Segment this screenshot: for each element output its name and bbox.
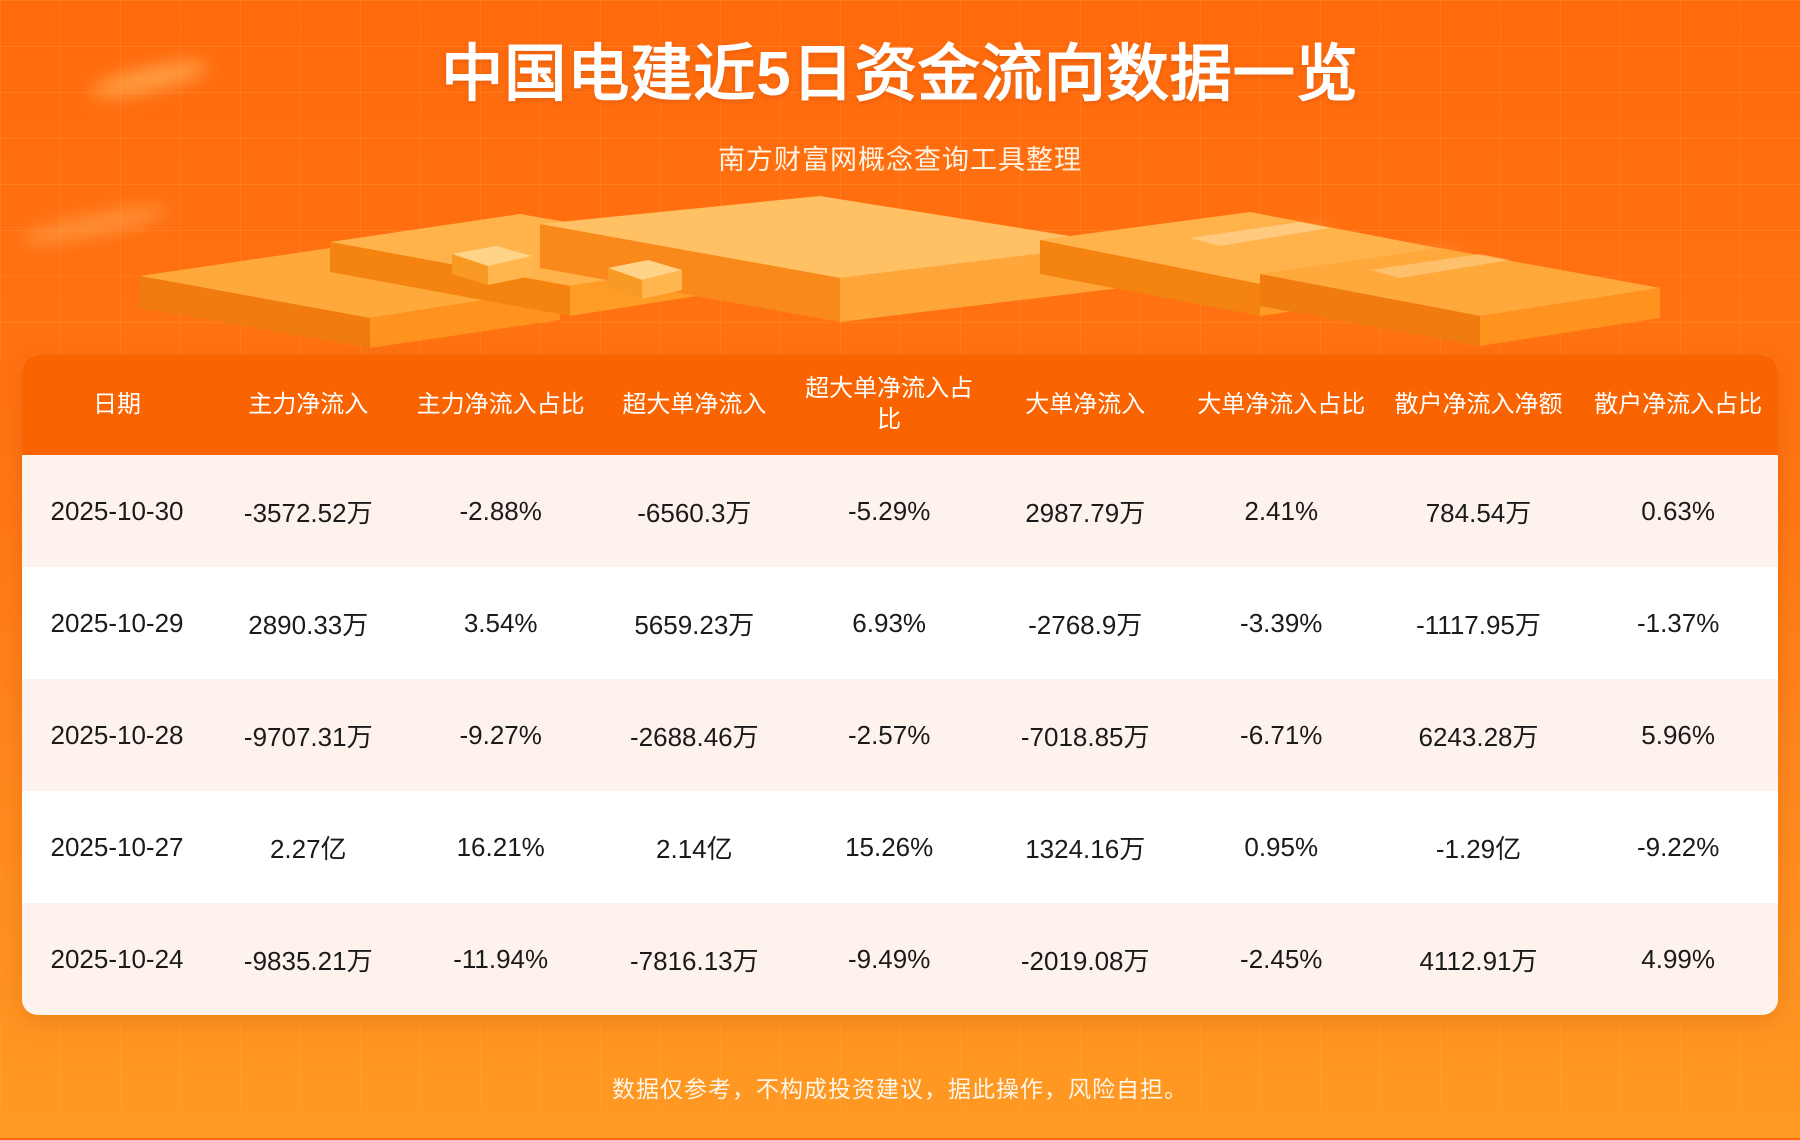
- cell-retail-net-amount: 4112.91万: [1379, 903, 1579, 1015]
- column-header-main-net-inflow-pct: 主力净流入占比: [404, 355, 596, 455]
- cell-large-net-inflow: -2019.08万: [987, 903, 1184, 1015]
- cell-retail-net-pct: 5.96%: [1578, 679, 1778, 791]
- cell-main-net-inflow-pct: -2.88%: [404, 455, 596, 567]
- table-header: 日期 主力净流入 主力净流入占比 超大单净流入 超大单净流入占比 大单净流入 大…: [22, 355, 1778, 455]
- cell-date: 2025-10-29: [22, 567, 212, 679]
- column-header-main-net-inflow: 主力净流入: [212, 355, 404, 455]
- cell-large-net-inflow: -2768.9万: [987, 567, 1184, 679]
- cell-retail-net-amount: 6243.28万: [1379, 679, 1579, 791]
- cell-retail-net-amount: -1117.95万: [1379, 567, 1579, 679]
- cell-large-net-inflow-pct: 2.41%: [1184, 455, 1379, 567]
- cell-date: 2025-10-27: [22, 791, 212, 903]
- column-header-date: 日期: [22, 355, 212, 455]
- cell-large-net-inflow: 1324.16万: [987, 791, 1184, 903]
- data-card: 南方财富网 Southmoney.com 日期 主力净流入 主力净流入占比 超大…: [22, 355, 1778, 1015]
- column-header-large-net-inflow-pct: 大单净流入占比: [1184, 355, 1379, 455]
- cell-retail-net-pct: -9.22%: [1578, 791, 1778, 903]
- table-body: 2025-10-30 -3572.52万 -2.88% -6560.3万 -5.…: [22, 455, 1778, 1015]
- cell-main-net-inflow-pct: -9.27%: [404, 679, 596, 791]
- cell-retail-net-amount: -1.29亿: [1379, 791, 1579, 903]
- table-header-row: 日期 主力净流入 主力净流入占比 超大单净流入 超大单净流入占比 大单净流入 大…: [22, 355, 1778, 455]
- cell-retail-net-pct: 4.99%: [1578, 903, 1778, 1015]
- cell-retail-net-amount: 784.54万: [1379, 455, 1579, 567]
- cell-main-net-inflow-pct: 16.21%: [404, 791, 596, 903]
- cell-large-net-inflow-pct: -3.39%: [1184, 567, 1379, 679]
- page-subtitle: 南方财富网概念查询工具整理: [0, 138, 1800, 177]
- cell-xl-net-inflow-pct: -5.29%: [792, 455, 987, 567]
- cell-date: 2025-10-24: [22, 903, 212, 1015]
- column-header-retail-net-amount: 散户净流入净额: [1379, 355, 1579, 455]
- cell-large-net-inflow-pct: -2.45%: [1184, 903, 1379, 1015]
- cell-main-net-inflow: -9835.21万: [212, 903, 404, 1015]
- cell-xl-net-inflow: -6560.3万: [597, 455, 792, 567]
- cell-xl-net-inflow-pct: -9.49%: [792, 903, 987, 1015]
- cell-main-net-inflow: -9707.31万: [212, 679, 404, 791]
- cell-xl-net-inflow-pct: 15.26%: [792, 791, 987, 903]
- cell-main-net-inflow-pct: 3.54%: [404, 567, 596, 679]
- cell-main-net-inflow: 2.27亿: [212, 791, 404, 903]
- column-header-xl-net-inflow-pct: 超大单净流入占比: [792, 355, 987, 455]
- header: 中国电建近5日资金流向数据一览 南方财富网概念查询工具整理: [0, 0, 1800, 177]
- table-row: 2025-10-27 2.27亿 16.21% 2.14亿 15.26% 132…: [22, 791, 1778, 903]
- column-header-xl-net-inflow: 超大单净流入: [597, 355, 792, 455]
- disclaimer: 数据仅参考，不构成投资建议，据此操作，风险自担。: [0, 1070, 1800, 1104]
- column-header-large-net-inflow: 大单净流入: [987, 355, 1184, 455]
- table-row: 2025-10-28 -9707.31万 -9.27% -2688.46万 -2…: [22, 679, 1778, 791]
- cell-main-net-inflow: 2890.33万: [212, 567, 404, 679]
- cell-retail-net-pct: -1.37%: [1578, 567, 1778, 679]
- cell-main-net-inflow-pct: -11.94%: [404, 903, 596, 1015]
- cell-large-net-inflow-pct: 0.95%: [1184, 791, 1379, 903]
- cell-xl-net-inflow-pct: 6.93%: [792, 567, 987, 679]
- table-row: 2025-10-24 -9835.21万 -11.94% -7816.13万 -…: [22, 903, 1778, 1015]
- cell-xl-net-inflow-pct: -2.57%: [792, 679, 987, 791]
- table-row: 2025-10-29 2890.33万 3.54% 5659.23万 6.93%…: [22, 567, 1778, 679]
- cell-xl-net-inflow: 5659.23万: [597, 567, 792, 679]
- cell-xl-net-inflow: -2688.46万: [597, 679, 792, 791]
- cell-xl-net-inflow: -7816.13万: [597, 903, 792, 1015]
- cell-xl-net-inflow: 2.14亿: [597, 791, 792, 903]
- page-title: 中国电建近5日资金流向数据一览: [0, 36, 1800, 114]
- cell-date: 2025-10-28: [22, 679, 212, 791]
- column-header-retail-net-pct: 散户净流入占比: [1578, 355, 1778, 455]
- cell-large-net-inflow: -7018.85万: [987, 679, 1184, 791]
- cell-large-net-inflow-pct: -6.71%: [1184, 679, 1379, 791]
- fund-flow-table: 日期 主力净流入 主力净流入占比 超大单净流入 超大单净流入占比 大单净流入 大…: [22, 355, 1778, 1015]
- cell-main-net-inflow: -3572.52万: [212, 455, 404, 567]
- podium-decoration: [0, 196, 1800, 356]
- cell-large-net-inflow: 2987.79万: [987, 455, 1184, 567]
- table-row: 2025-10-30 -3572.52万 -2.88% -6560.3万 -5.…: [22, 455, 1778, 567]
- cell-date: 2025-10-30: [22, 455, 212, 567]
- cell-retail-net-pct: 0.63%: [1578, 455, 1778, 567]
